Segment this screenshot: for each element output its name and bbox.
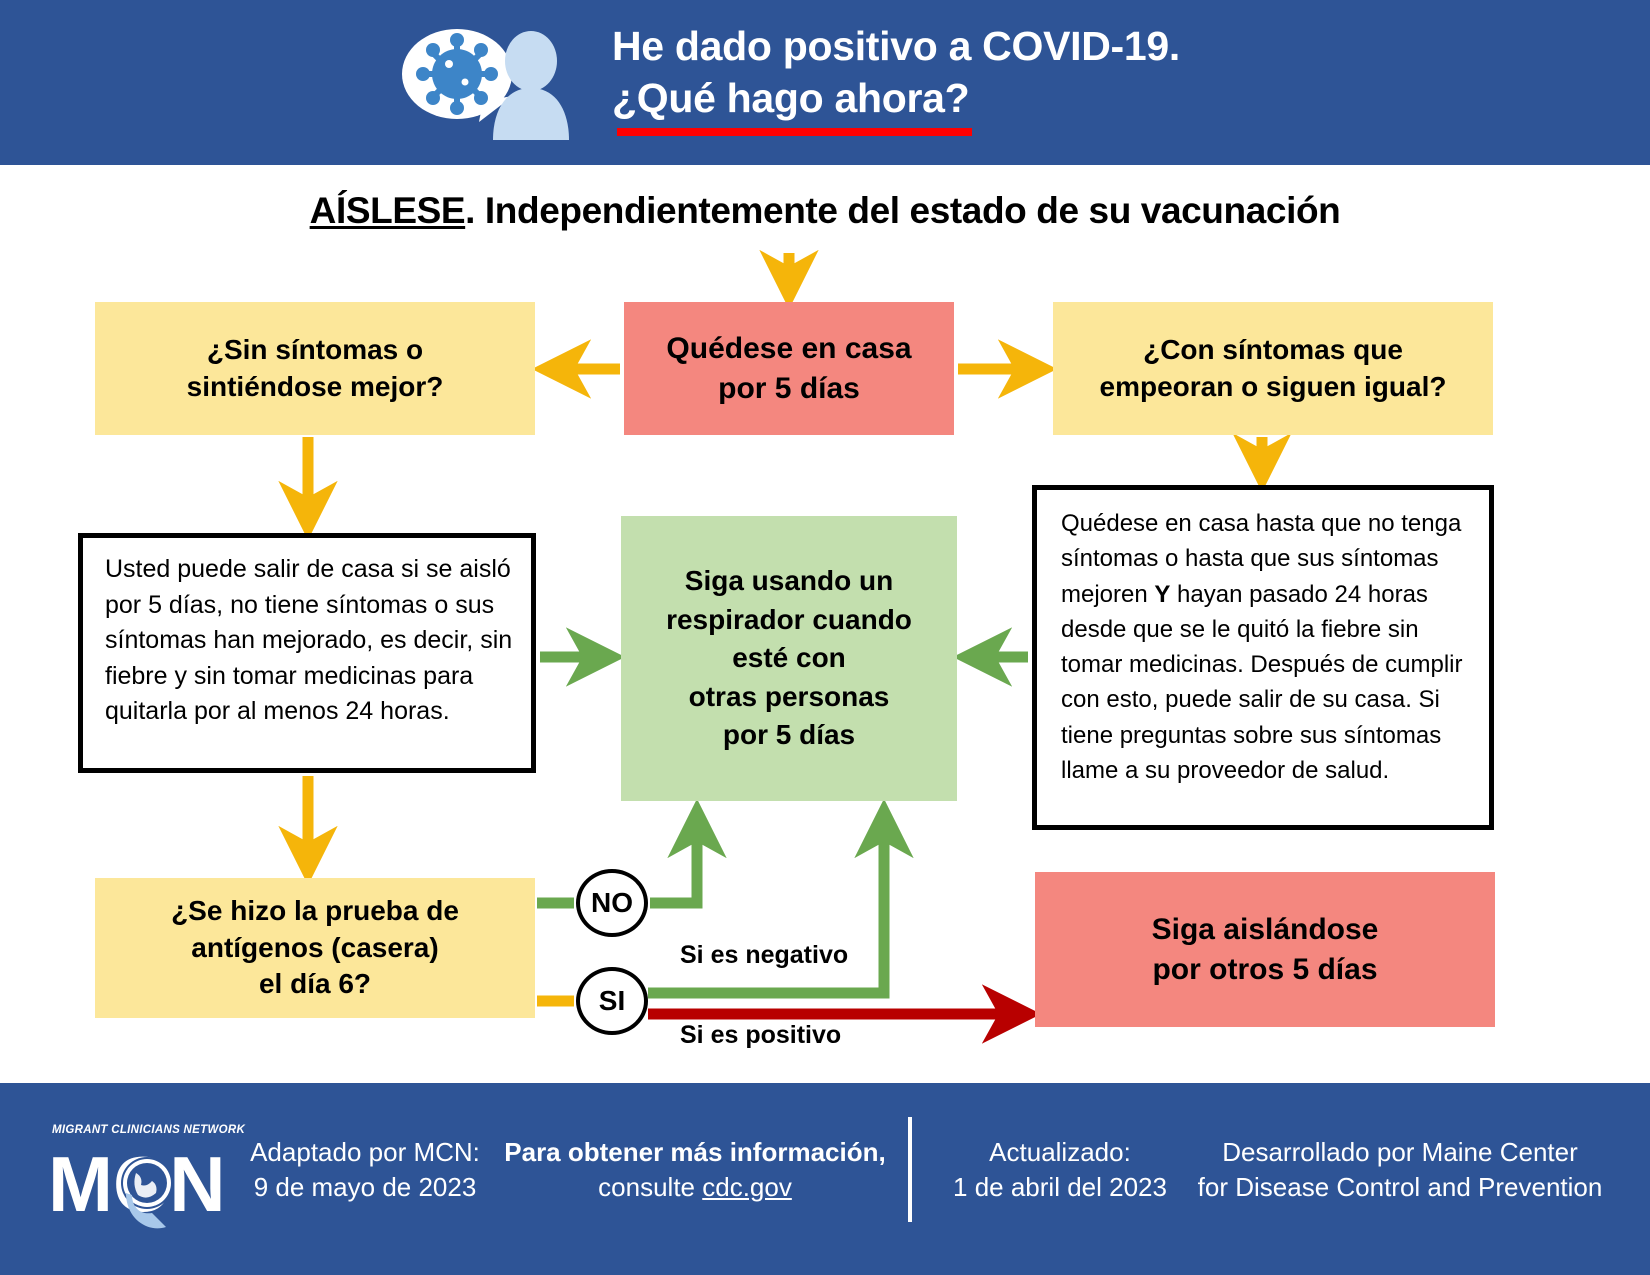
header-title-line1: He dado positivo a COVID-19.	[612, 20, 1180, 72]
box-respirador-line5: por 5 días	[666, 716, 912, 755]
page-title-emphasis: AÍSLESE	[310, 190, 466, 231]
box-prueba-line1: ¿Se hizo la prueba de	[171, 893, 459, 930]
box-prueba-antigenos: ¿Se hizo la prueba de antígenos (casera)…	[95, 878, 535, 1018]
box-aislandose-line1: Siga aislándose	[1152, 910, 1379, 950]
page-title-rest: . Independientemente del estado de su va…	[465, 190, 1340, 231]
header-title: He dado positivo a COVID-19. ¿Qué hago a…	[612, 20, 1180, 125]
box-puede-salir-de-casa: Usted puede salir de casa si se aisló po…	[78, 533, 536, 773]
box-respirador-line4: otras personas	[666, 678, 912, 717]
box-quedese-en-casa: Quédese en casa por 5 días	[624, 302, 954, 435]
footer-info-line2: consulte cdc.gov	[500, 1170, 890, 1205]
box-siga-aislandose: Siga aislándose por otros 5 días	[1035, 872, 1495, 1027]
box-quedese-line2: por 5 días	[666, 369, 911, 409]
box-quedese-hasta-text: Quédese en casa hasta que no tenga sínto…	[1061, 506, 1471, 788]
mcn-logo: MIGRANT CLINICIANS NETWORK MCN	[48, 1115, 248, 1235]
decision-circle-si: SI	[576, 967, 648, 1035]
footer-consulte-label: consulte	[598, 1172, 702, 1202]
footer-vertical-divider	[908, 1117, 912, 1222]
speech-bubble-virus-person-icon	[395, 16, 570, 151]
footer-adaptado-line1: Adaptado por MCN:	[240, 1135, 490, 1170]
box-con-sintomas-line1: ¿Con síntomas que	[1100, 332, 1447, 369]
page-title: AÍSLESE. Independientemente del estado d…	[0, 190, 1650, 232]
box-con-sintomas: ¿Con síntomas que empeoran o siguen igua…	[1053, 302, 1493, 435]
box-prueba-line3: el día 6?	[171, 966, 459, 1003]
box-puede-salir-text: Usted puede salir de casa si se aisló po…	[105, 552, 513, 730]
infographic-page: He dado positivo a COVID-19. ¿Qué hago a…	[0, 0, 1650, 1275]
footer-dev-line1: Desarrollado por Maine Center	[1190, 1135, 1610, 1170]
footer-banner: MIGRANT CLINICIANS NETWORK MCN Adaptado …	[0, 1083, 1650, 1275]
footer-mas-informacion: Para obtener más información, consulte c…	[500, 1135, 890, 1205]
footer-adaptado-line2: 9 de mayo de 2023	[240, 1170, 490, 1205]
box-quedese-line1: Quédese en casa	[666, 329, 911, 369]
footer-adaptado-por-mcn: Adaptado por MCN: 9 de mayo de 2023	[240, 1135, 490, 1205]
box-respirador-line2: respirador cuando	[666, 601, 912, 640]
footer-actualizado-line2: 1 de abril del 2023	[930, 1170, 1190, 1205]
header-red-underline	[617, 128, 972, 136]
box-sin-sintomas-line1: ¿Sin síntomas o	[187, 332, 444, 369]
header-title-line2: ¿Qué hago ahora?	[612, 72, 969, 124]
box-sin-sintomas: ¿Sin síntomas o sintiéndose mejor?	[95, 302, 535, 435]
box-quedese-hasta-sin-sintomas: Quédese en casa hasta que no tenga sínto…	[1032, 485, 1494, 830]
box-con-sintomas-line2: empeoran o siguen igual?	[1100, 369, 1447, 406]
box-respirador-line3: esté con	[666, 639, 912, 678]
box-aislandose-line2: por otros 5 días	[1152, 950, 1379, 990]
mcn-logo-tagline: MIGRANT CLINICIANS NETWORK	[52, 1124, 245, 1136]
box-respirador-line1: Siga usando un	[666, 562, 912, 601]
arrow-no-to-respirador	[650, 812, 697, 903]
box-prueba-line2: antígenos (casera)	[171, 930, 459, 967]
quedese-hasta-bold-y: Y	[1154, 581, 1170, 608]
footer-info-line1: Para obtener más información,	[500, 1135, 890, 1170]
footer-desarrollado-por: Desarrollado por Maine Center for Diseas…	[1190, 1135, 1610, 1205]
box-siga-usando-respirador: Siga usando un respirador cuando esté co…	[621, 516, 957, 801]
decision-circle-no: NO	[576, 869, 648, 937]
footer-actualizado: Actualizado: 1 de abril del 2023	[930, 1135, 1190, 1205]
edge-label-si-es-negativo: Si es negativo	[680, 941, 848, 970]
footer-dev-line2: for Disease Control and Prevention	[1190, 1170, 1610, 1205]
quedese-hasta-part2: hayan pasado 24 horas desde que se le qu…	[1061, 581, 1463, 784]
box-sin-sintomas-line2: sintiéndose mejor?	[187, 369, 444, 406]
cdc-gov-link[interactable]: cdc.gov	[702, 1172, 792, 1202]
footer-actualizado-line1: Actualizado:	[930, 1135, 1190, 1170]
edge-label-si-es-positivo: Si es positivo	[680, 1021, 841, 1050]
header-banner: He dado positivo a COVID-19. ¿Qué hago a…	[0, 0, 1650, 165]
